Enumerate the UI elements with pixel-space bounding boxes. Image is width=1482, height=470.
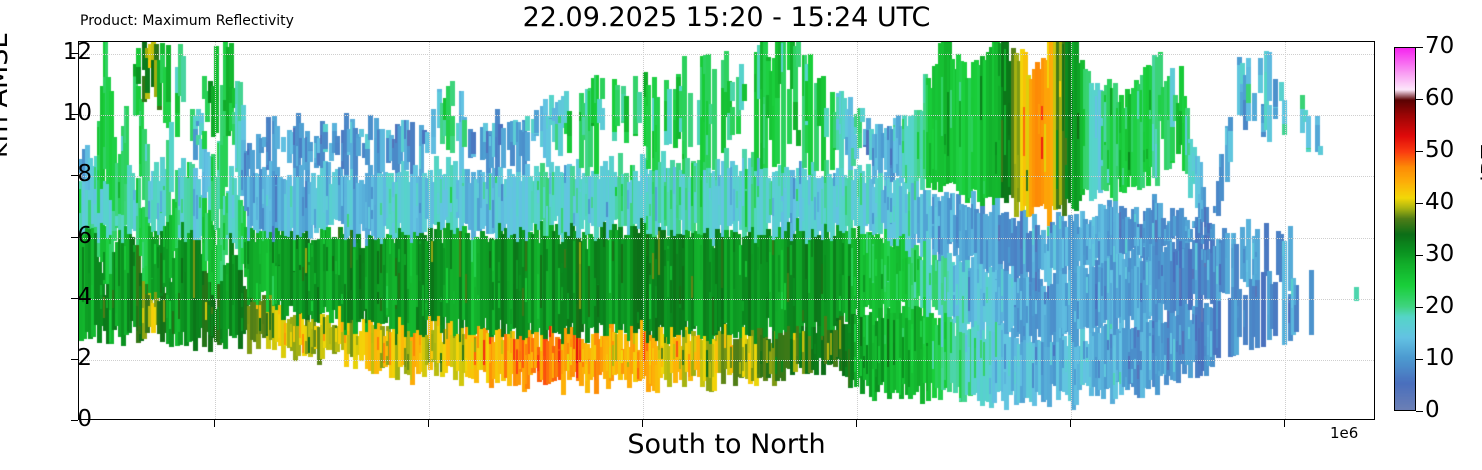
plot-axes xyxy=(78,41,1375,420)
x-tick-mark xyxy=(1070,420,1071,427)
x-axis-label: South to North xyxy=(78,430,1375,460)
colorbar-tick-label: 50 xyxy=(1425,139,1454,162)
x-axis-exponent: 1e6 xyxy=(1330,425,1358,442)
colorbar-gradient xyxy=(1395,48,1415,410)
x-tick-mark xyxy=(428,420,429,427)
colorbar-tick-mark xyxy=(1416,255,1423,256)
radar-cross-section-figure: Product: Maximum Reflectivity 22.09.2025… xyxy=(0,0,1482,470)
colorbar-tick-label: 20 xyxy=(1425,295,1454,318)
colorbar-tick-mark xyxy=(1416,203,1423,204)
colorbar-tick-mark xyxy=(1416,151,1423,152)
colorbar-tick-mark xyxy=(1416,47,1423,48)
y-tick-label: 0 xyxy=(77,408,92,431)
x-tick-mark xyxy=(642,420,643,427)
colorbar-tick-label: 0 xyxy=(1425,399,1440,422)
y-tick-label: 2 xyxy=(77,347,92,370)
colorbar-tick-label: 70 xyxy=(1425,35,1454,58)
y-tick-label: 8 xyxy=(77,163,92,186)
colorbar-tick-label: 60 xyxy=(1425,87,1454,110)
x-tick-mark xyxy=(1284,420,1285,427)
reflectivity-heatmap xyxy=(79,42,1375,420)
colorbar-tick-label: 30 xyxy=(1425,243,1454,266)
y-tick-label: 4 xyxy=(77,286,92,309)
colorbar-tick-mark xyxy=(1416,411,1423,412)
chart-title: 22.09.2025 15:20 - 15:24 UTC xyxy=(78,2,1375,34)
colorbar-tick-mark xyxy=(1416,307,1423,308)
colorbar-label: dBZ xyxy=(1478,144,1482,190)
colorbar-tick-label: 40 xyxy=(1425,191,1454,214)
y-axis-label: km AMSL xyxy=(0,34,14,158)
x-tick-mark xyxy=(856,420,857,427)
y-tick-label: 6 xyxy=(77,225,92,248)
x-tick-mark xyxy=(214,420,215,427)
y-tick-label: 12 xyxy=(63,41,92,64)
colorbar-tick-label: 10 xyxy=(1425,347,1454,370)
colorbar xyxy=(1394,47,1416,411)
colorbar-tick-mark xyxy=(1416,359,1423,360)
y-tick-label: 10 xyxy=(63,102,92,125)
colorbar-tick-mark xyxy=(1416,99,1423,100)
